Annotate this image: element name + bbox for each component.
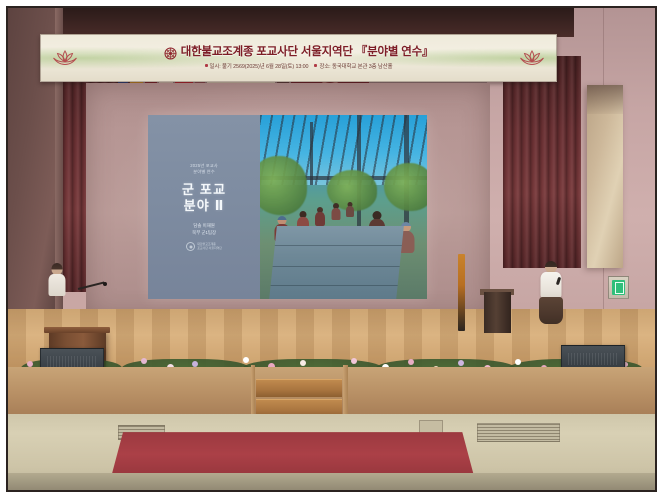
- banner-date-segment: 일시: 불기 2569(2025)년 6월 28일(토) 13:00: [205, 62, 309, 70]
- floor-vent-grille: [477, 423, 560, 441]
- banner-title: 대한불교조계종 포교사단 서울지역단 『분야별 연수』: [181, 47, 434, 59]
- curtain-valance: [63, 8, 574, 37]
- slide-presenter-line1: 담솔 이재원: [192, 223, 216, 230]
- gooseneck-microphone-icon: [78, 278, 105, 298]
- slide-organization-logo: 대한불교조계종 포교사단 서울지역단: [186, 242, 222, 251]
- projection-screen: 2025년 포교사 분야별 연수 군 포교 분야 Ⅱ 담솔 이재원 북부 군1팀…: [86, 83, 490, 319]
- table-plank-line: [275, 245, 402, 246]
- slide-kicker-line2: 분야별 연수: [190, 169, 218, 175]
- stage-curtain-right: [503, 56, 581, 268]
- alcove-shadow: [587, 85, 623, 114]
- picnic-table: [269, 226, 404, 300]
- microphone-arm: [78, 281, 105, 289]
- person-holding-handheld-microphone: [529, 261, 574, 357]
- stair-step: [256, 379, 341, 397]
- microphone-head: [103, 282, 107, 286]
- slide-logo-text: 대한불교조계종 포교사단 서울지역단: [197, 243, 222, 251]
- banner-title-row: 대한불교조계종 포교사단 서울지역단 『분야별 연수』: [164, 47, 434, 60]
- auditorium-scene: 대한불교조계종 포교사단 서울지역단 『분야별 연수』 일시: 불기 2569(…: [8, 8, 655, 490]
- bullet-icon: [314, 64, 317, 67]
- event-banner: 대한불교조계종 포교사단 서울지역단 『분야별 연수』 일시: 불기 2569(…: [40, 34, 556, 82]
- banner-subtitle: 일시: 불기 2569(2025)년 6월 28일(토) 13:00 장소: 동…: [205, 62, 393, 70]
- auditorium-floor: [8, 473, 655, 490]
- organization-mark-icon: [186, 242, 195, 251]
- foliage: [260, 156, 307, 215]
- person-legs: [539, 297, 563, 324]
- slide-photograph: [260, 115, 427, 299]
- lotus-icon: [52, 48, 78, 68]
- person-standing-at-podium: [39, 263, 75, 335]
- photo-frame: 대한불교조계종 포교사단 서울지역단 『분야별 연수』 일시: 불기 2569(…: [0, 0, 663, 498]
- slide-title-line1: 군 포교: [182, 182, 226, 198]
- photo-border: 대한불교조계종 포교사단 서울지역단 『분야별 연수』 일시: 불기 2569(…: [6, 6, 657, 492]
- slide-presenter-line2: 북부 군1팀장: [192, 230, 216, 237]
- slide-presenter: 담솔 이재원 북부 군1팀장: [192, 223, 216, 236]
- person-body: [315, 212, 325, 226]
- person-body: [332, 208, 341, 220]
- person-body: [48, 274, 65, 296]
- table-plank-line: [271, 285, 398, 286]
- banner-date-label: 일시: 불기 2569(2025)년 6월 28일(토) 13:00: [210, 62, 309, 70]
- banner-venue-segment: 장소: 동국대학교 본관 3층 남산홀: [314, 62, 392, 70]
- ceremonial-flag-pole: [458, 254, 466, 331]
- slide-kicker: 2025년 포교사 분야별 연수: [190, 163, 218, 175]
- person-body: [346, 206, 354, 217]
- podium-top-surface: [44, 327, 110, 333]
- slide-logo-line2: 포교사단 서울지역단: [197, 246, 222, 250]
- table-plank-line: [273, 265, 400, 266]
- banner-venue-label: 장소: 동국대학교 본관 3층 남산홀: [319, 62, 392, 70]
- dharma-wheel-icon: [164, 47, 177, 60]
- lotus-icon: [519, 48, 545, 68]
- emergency-exit-sign: [608, 276, 629, 299]
- slide-text-panel: 2025년 포교사 분야별 연수 군 포교 분야 Ⅱ 담솔 이재원 북부 군1팀…: [148, 115, 260, 299]
- slide-title: 군 포교 분야 Ⅱ: [182, 182, 226, 214]
- bullet-icon: [205, 64, 208, 67]
- slide-title-line2: 분야 Ⅱ: [182, 198, 226, 214]
- exit-sign-glyph-icon: [612, 280, 626, 295]
- presentation-slide: 2025년 포교사 분야별 연수 군 포교 분야 Ⅱ 담솔 이재원 북부 군1팀…: [148, 115, 427, 299]
- audio-amplifier-cabinet: [484, 292, 511, 333]
- foliage: [384, 163, 428, 211]
- pergola-post: [310, 122, 313, 185]
